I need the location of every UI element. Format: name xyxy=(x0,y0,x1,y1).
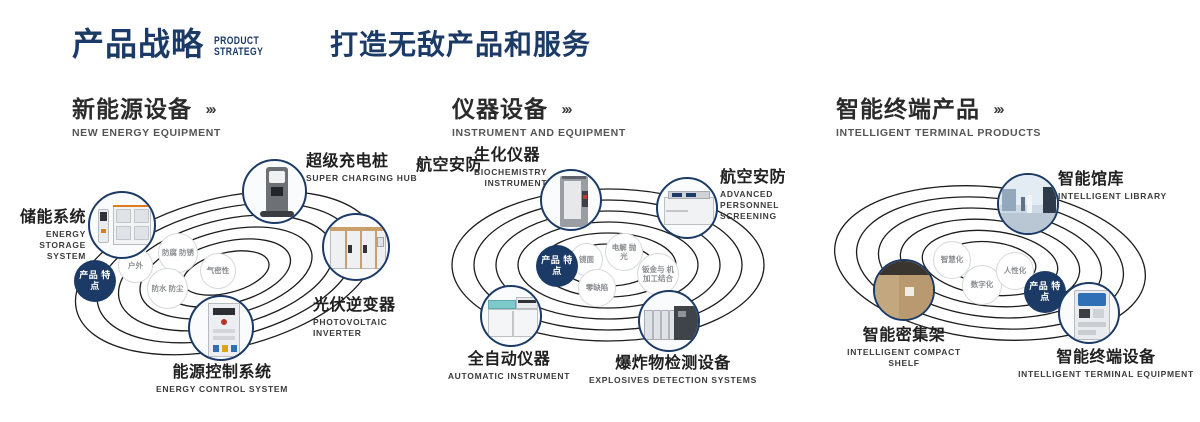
caption-en: ENERGY CONTROL SYSTEM xyxy=(112,384,332,395)
node-intelligent-terminal-equipment[interactable] xyxy=(1058,282,1120,344)
caption-energy-storage-system: 储能系统 ENERGY STORAGE SYSTEM xyxy=(0,209,86,263)
caption-cn: 全自动仪器 xyxy=(468,351,551,368)
photovoltaic-inverter-image xyxy=(324,215,388,279)
caption-intelligent-terminal-equipment: 智能终端设备 INTELLIGENT TERMINAL EQUIPMENT xyxy=(996,349,1200,380)
section-title-en: INTELLIGENT TERMINAL PRODUCTS xyxy=(836,127,1041,139)
feature-label: 数字化 xyxy=(971,280,994,289)
caption-en: ENERGY STORAGE SYSTEM xyxy=(0,229,86,262)
caption-en: ADVANCED PERSONNEL SCREENING xyxy=(720,189,804,222)
page-title: 产品战略 xyxy=(72,28,204,60)
caption-en: INTELLIGENT TERMINAL EQUIPMENT xyxy=(996,369,1200,380)
feature-bubble: 防水 防尘 xyxy=(147,268,188,309)
energy-control-system-image xyxy=(190,297,252,359)
feature-label: 智慧化 xyxy=(941,255,964,264)
feature-label: 防腐 防锈 xyxy=(162,248,194,257)
explosives-detection-systems-image xyxy=(640,292,698,350)
section-title-en: NEW ENERGY EQUIPMENT xyxy=(72,127,221,139)
feature-bubble: 电解 抛光 xyxy=(605,233,643,271)
caption-super-charging-hub: 超级充电桩 SUPER CHARGING HUB xyxy=(306,153,417,184)
caption-en: BIOCHEMISTRY INSTRUMENT xyxy=(474,167,547,189)
section-title-cn: 仪器设备 xyxy=(452,97,548,122)
feature-bubble: 零缺陷 xyxy=(578,269,616,307)
core-label: 产品 特点 xyxy=(538,255,576,277)
caption-cn: 航空安防 xyxy=(416,157,482,174)
node-intelligent-library[interactable] xyxy=(997,173,1059,235)
caption-advanced-personnel-screening: 航空安防 ADVANCED PERSONNEL SCREENING xyxy=(720,169,804,223)
caption-energy-control-system: 能源控制系统 ENERGY CONTROL SYSTEM xyxy=(112,364,332,395)
caption-biochemistry-instrument: 生化仪器 BIOCHEMISTRY INSTRUMENT xyxy=(474,147,547,189)
caption-en: PHOTOVOLTAIC INVERTER xyxy=(313,317,420,339)
caption-cn: 能源控制系统 xyxy=(172,364,271,381)
caption-en: SUPER CHARGING HUB xyxy=(306,173,417,184)
feature-label: 人性化 xyxy=(1004,266,1027,275)
caption-intelligent-library: 智能馆库 INTELLIGENT LIBRARY xyxy=(1058,171,1167,202)
node-explosives-detection-systems[interactable] xyxy=(638,290,700,352)
diagram-intelligent-terminal: 智慧化 数字化 人性化 产品 特点 智能馆库 INTELLIGENT LIBRA… xyxy=(800,155,1198,390)
node-photovoltaic-inverter[interactable] xyxy=(322,213,390,281)
chevron-right-icon: ››› xyxy=(561,101,570,118)
caption-explosives-detection-systems: 爆炸物检测设备 EXPLOSIVES DETECTION SYSTEMS xyxy=(558,355,788,386)
section-title-en: INSTRUMENT AND EQUIPMENT xyxy=(452,127,626,139)
feature-label: 镜面 xyxy=(579,255,594,264)
super-charging-hub-image xyxy=(244,161,305,222)
feature-bubble: 防腐 防锈 xyxy=(158,233,198,273)
node-biochemistry-instrument[interactable] xyxy=(540,169,602,231)
page-title-en: PRODUCT STRATEGY xyxy=(214,36,263,59)
caption-aviation-security-left: 航空安防 xyxy=(416,157,482,175)
diagram-new-energy: 防腐 防锈 户外 防水 防尘 气密性 产品 特点 xyxy=(30,155,420,390)
feature-label: 钣金与 机加工结合 xyxy=(640,265,676,284)
node-energy-control-system[interactable] xyxy=(188,295,254,361)
node-energy-storage-system[interactable] xyxy=(88,191,156,259)
page-subtitle: 打造无敌产品和服务 xyxy=(330,31,591,59)
section-title-instrument: 仪器设备 ››› INSTRUMENT AND EQUIPMENT xyxy=(452,97,626,139)
section-title-cn: 智能终端产品 xyxy=(836,97,980,122)
feature-label: 零缺陷 xyxy=(586,283,609,292)
feature-label: 户外 xyxy=(128,261,143,270)
caption-cn: 光伏逆变器 xyxy=(313,297,396,314)
energy-storage-system-image xyxy=(90,193,154,257)
chevron-right-icon: ››› xyxy=(993,101,1002,118)
node-super-charging-hub[interactable] xyxy=(242,159,307,224)
caption-en: INTELLIGENT LIBRARY xyxy=(1058,191,1167,202)
advanced-personnel-screening-image xyxy=(658,179,716,237)
caption-en: EXPLOSIVES DETECTION SYSTEMS xyxy=(558,375,788,386)
core-label: 产品 特点 xyxy=(76,270,114,292)
caption-cn: 智能馆库 xyxy=(1058,171,1124,188)
caption-cn: 储能系统 xyxy=(20,209,86,226)
caption-cn: 智能终端设备 xyxy=(1056,349,1155,366)
automatic-instrument-image xyxy=(482,287,540,345)
section-title-intelligent-terminal: 智能终端产品 ››› INTELLIGENT TERMINAL PRODUCTS xyxy=(836,97,1041,139)
section-title-new-energy: 新能源设备 ››› NEW ENERGY EQUIPMENT xyxy=(72,97,221,139)
diagram-instrument: 镜面 电解 抛光 零缺陷 钣金与 机加工结合 产品 特点 航空安防 xyxy=(412,155,804,390)
section-title-cn: 新能源设备 xyxy=(72,97,192,122)
caption-cn: 生化仪器 xyxy=(474,147,540,164)
node-advanced-personnel-screening[interactable] xyxy=(656,177,718,239)
caption-intelligent-compact-shelf: 智能密集架 INTELLIGENT COMPACT SHELF xyxy=(792,327,1016,369)
feature-bubble: 钣金与 机加工结合 xyxy=(637,253,679,295)
feature-label: 电解 抛光 xyxy=(608,243,640,262)
node-automatic-instrument[interactable] xyxy=(480,285,542,347)
product-strategy-infographic: 产品战略 PRODUCT STRATEGY 打造无敌产品和服务 新能源设备 ››… xyxy=(0,0,1200,422)
caption-cn: 超级充电桩 xyxy=(306,153,389,170)
feature-label: 气密性 xyxy=(207,266,230,275)
intelligent-terminal-equipment-image xyxy=(1060,284,1118,342)
node-intelligent-compact-shelf[interactable] xyxy=(873,259,935,321)
page-header: 产品战略 PRODUCT STRATEGY xyxy=(72,28,277,60)
caption-en: INTELLIGENT COMPACT SHELF xyxy=(792,347,1016,369)
intelligent-compact-shelf-image xyxy=(875,261,933,319)
core-bubble: 产品 特点 xyxy=(74,260,116,302)
intelligent-library-image xyxy=(999,175,1057,233)
chevron-right-icon: ››› xyxy=(205,101,214,118)
caption-cn: 爆炸物检测设备 xyxy=(615,355,731,372)
biochemistry-instrument-image xyxy=(542,171,600,229)
feature-label: 防水 防尘 xyxy=(151,284,183,293)
caption-photovoltaic-inverter: 光伏逆变器 PHOTOVOLTAIC INVERTER xyxy=(313,297,420,339)
core-bubble: 产品 特点 xyxy=(536,245,578,287)
caption-cn: 智能密集架 xyxy=(863,327,946,344)
caption-cn: 航空安防 xyxy=(720,169,786,186)
feature-bubble: 气密性 xyxy=(200,253,236,289)
core-label: 产品 特点 xyxy=(1026,281,1064,303)
